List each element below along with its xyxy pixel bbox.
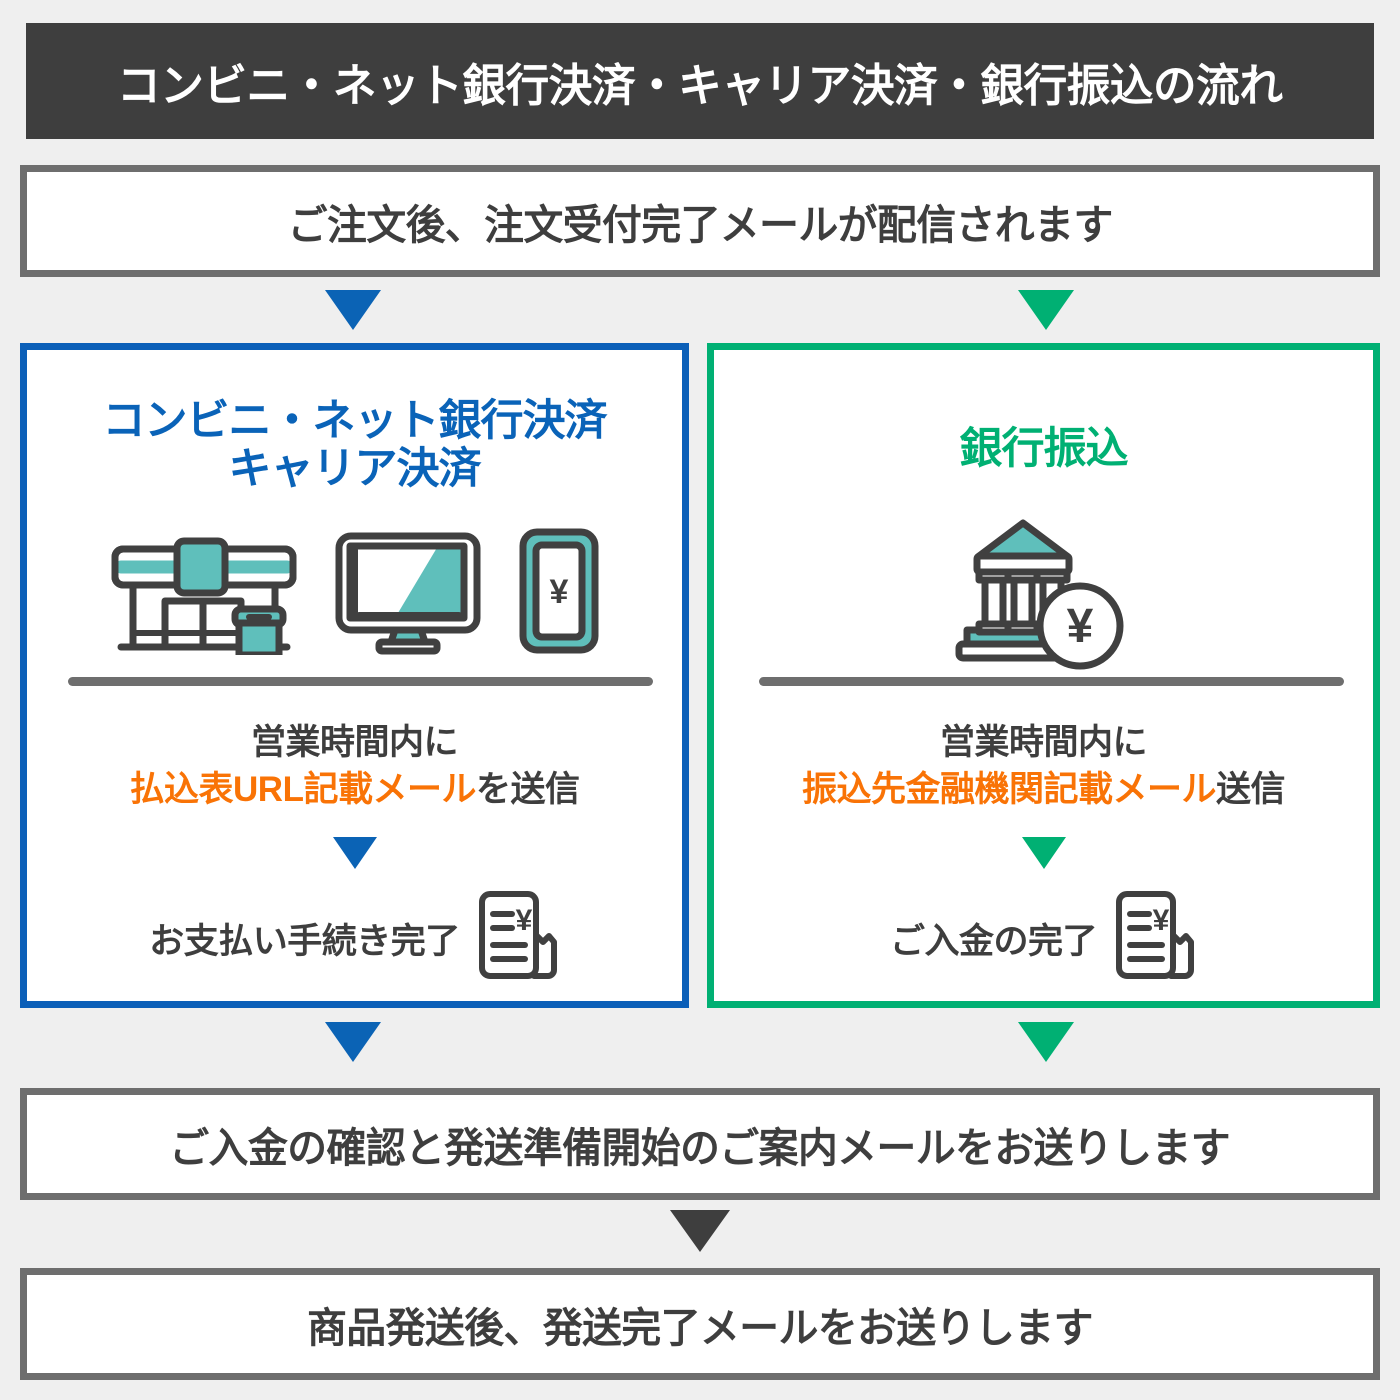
panel-convenience-title-line2: キャリア決済 bbox=[229, 445, 481, 493]
svg-text:¥: ¥ bbox=[549, 573, 568, 611]
convenience-notice-line1: 営業時間内に bbox=[251, 723, 458, 762]
desktop-monitor-icon bbox=[333, 530, 483, 660]
convenience-notice: 営業時間内に 払込表URL記載メールを送信 bbox=[27, 720, 682, 813]
panel-bank-transfer: 銀行振込 bbox=[707, 343, 1380, 1008]
bank-notice-suffix: 送信 bbox=[1216, 770, 1285, 809]
step-shipment-complete: 商品発送後、発送完了メールをお送りします bbox=[20, 1268, 1380, 1380]
arrow-down-icon-bank-to-confirm bbox=[1018, 1022, 1074, 1062]
payment-flow-diagram: コンビニ・ネット銀行決済・キャリア決済・銀行振込の流れ ご注文後、注文受付完了メ… bbox=[0, 0, 1400, 1400]
step-order-received-label: ご注文後、注文受付完了メールが配信されます bbox=[288, 191, 1113, 251]
page-title: コンビニ・ネット銀行決済・キャリア決済・銀行振込の流れ bbox=[117, 49, 1282, 114]
svg-text:¥: ¥ bbox=[1153, 904, 1170, 937]
bank-icon-row: ¥ bbox=[714, 510, 1373, 675]
bank-result-label: ご入金の完了 bbox=[890, 913, 1097, 964]
convenience-result-label: お支払い手続き完了 bbox=[149, 913, 460, 964]
receipt-yen-icon: ¥ bbox=[474, 888, 560, 989]
convenience-notice-highlight: 払込表URL記載メール bbox=[130, 770, 476, 809]
bank-notice: 営業時間内に 振込先金融機関記載メール送信 bbox=[714, 720, 1373, 813]
step-shipment-complete-label: 商品発送後、発送完了メールをお送りします bbox=[307, 1294, 1093, 1354]
section-divider bbox=[759, 677, 1344, 686]
panel-bank-title: 銀行振込 bbox=[714, 425, 1373, 473]
panel-convenience-title-line1: コンビニ・ネット銀行決済 bbox=[103, 397, 607, 445]
bank-result-row: ご入金の完了 ¥ bbox=[714, 888, 1373, 989]
svg-text:¥: ¥ bbox=[515, 904, 532, 937]
convenience-result-row: お支払い手続き完了 ¥ bbox=[27, 888, 682, 989]
section-divider bbox=[68, 677, 653, 686]
convenience-icon-row: ¥ bbox=[27, 527, 682, 660]
bank-notice-highlight: 振込先金融機関記載メール bbox=[802, 770, 1216, 809]
svg-text:¥: ¥ bbox=[1066, 600, 1093, 653]
bank-notice-line1: 営業時間内に bbox=[940, 723, 1147, 762]
step-payment-confirmed: ご入金の確認と発送準備開始のご案内メールをお送りします bbox=[20, 1088, 1380, 1200]
arrow-down-icon-to-shipped bbox=[670, 1210, 730, 1252]
diagram-header: コンビニ・ネット銀行決済・キャリア決済・銀行振込の流れ bbox=[26, 23, 1374, 139]
convenience-store-icon bbox=[109, 535, 299, 660]
arrow-down-icon-to-bank bbox=[1018, 290, 1074, 330]
smartphone-yen-icon: ¥ bbox=[517, 527, 601, 660]
arrow-down-icon-convenience-to-confirm bbox=[325, 1022, 381, 1062]
arrow-down-icon-to-convenience bbox=[325, 290, 381, 330]
step-payment-confirmed-label: ご入金の確認と発送準備開始のご案内メールをお送りします bbox=[170, 1114, 1231, 1174]
arrow-down-icon-bank-step bbox=[1022, 837, 1066, 869]
panel-convenience-title: コンビニ・ネット銀行決済 キャリア決済 bbox=[27, 397, 682, 493]
arrow-down-icon-convenience-step bbox=[333, 837, 377, 869]
panel-convenience-payment: コンビニ・ネット銀行決済 キャリア決済 bbox=[20, 343, 689, 1008]
step-order-received: ご注文後、注文受付完了メールが配信されます bbox=[20, 165, 1380, 277]
bank-building-yen-icon: ¥ bbox=[949, 510, 1139, 675]
convenience-notice-suffix: を送信 bbox=[476, 770, 580, 809]
receipt-yen-icon: ¥ bbox=[1111, 888, 1197, 989]
